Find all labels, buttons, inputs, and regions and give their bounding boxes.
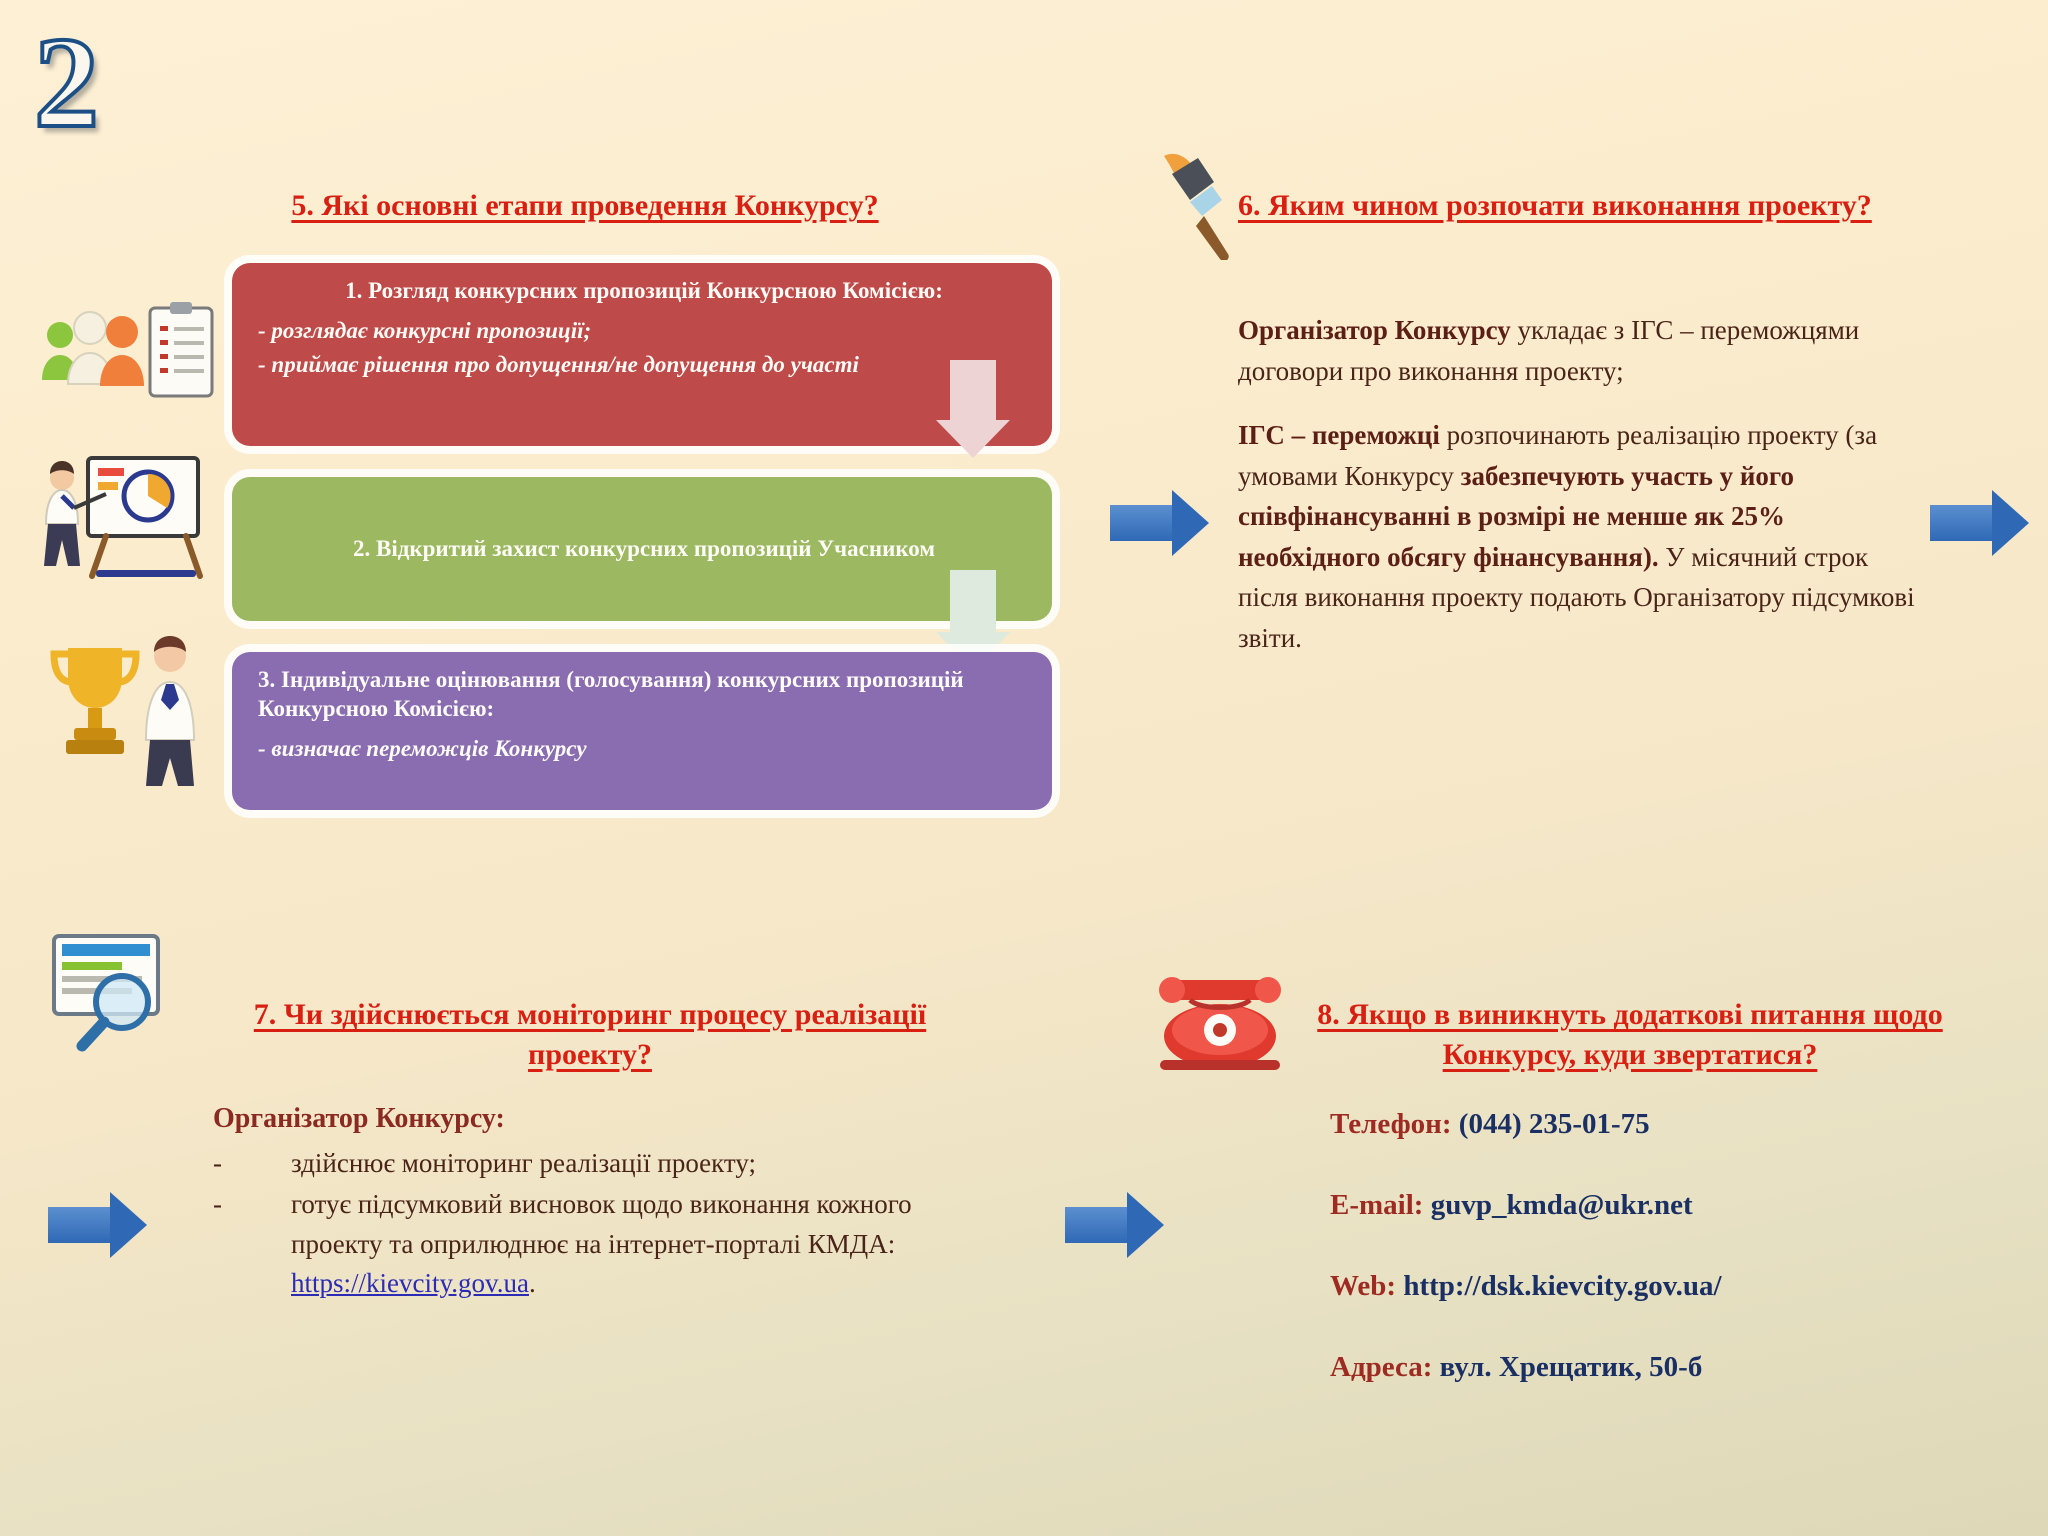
- contact-web-value[interactable]: http://dsk.kievcity.gov.ua/: [1403, 1270, 1721, 1302]
- trophy-winner-icon: [42, 630, 232, 790]
- flow-step-3-bullet-1: - визначає переможців Конкурсу: [258, 734, 1030, 764]
- flow-step-1-title: 1. Розгляд конкурсних пропозицій Конкурс…: [258, 277, 1030, 306]
- monitor-magnifier-icon: [48, 930, 178, 1060]
- contact-address: Адреса: вул. Хрещатик, 50-б: [1330, 1353, 1990, 1382]
- kievcity-portal-link[interactable]: https://kievcity.gov.ua: [291, 1268, 529, 1298]
- flow-step-1-bullet-2: - приймає рішення про допущення/не допущ…: [258, 350, 1030, 380]
- arrow-to-q6-body: [1110, 490, 1209, 556]
- arrow-to-q7-body: [48, 1192, 147, 1258]
- contact-web: Web: http://dsk.kievcity.gov.ua/: [1330, 1272, 1990, 1301]
- flow-arrow-1-2: [950, 360, 1010, 458]
- contact-phone-value: (044) 235-01-75: [1459, 1108, 1650, 1140]
- contact-address-label: Адреса:: [1330, 1351, 1432, 1383]
- q6-paragraph-2: ІГС – переможці розпочинають реалізацію …: [1238, 415, 1928, 658]
- flow-step-1-bullet-1: - розглядає конкурсні пропозиції;: [258, 316, 1030, 346]
- arrow-next-slide[interactable]: [1930, 490, 2029, 556]
- q7-bullet-2-text: готує підсумковий висновок щодо виконанн…: [291, 1189, 912, 1258]
- contact-email: E-mail: guvp_kmda@ukr.net: [1330, 1191, 1990, 1220]
- q7-lead: Організатор Конкурсу:: [213, 1098, 973, 1140]
- slide-number: 2: [34, 18, 99, 148]
- q7-bullet-1-text: здійснює моніторинг реалізації проекту;: [291, 1144, 973, 1183]
- q6-paragraph-1: Організатор Конкурсу укладає з ІГС – пер…: [1238, 310, 1928, 391]
- people-clipboard-icon: [38, 300, 228, 410]
- question-7-heading: 7. Чи здійснюється моніторинг процесу ре…: [200, 995, 980, 1074]
- flow-step-3-title: 3. Індивідуальне оцінювання (голосування…: [258, 666, 1030, 724]
- q7-bullet-2-dash: -: [213, 1185, 291, 1303]
- question-6-heading: 6. Яким чином розпочати виконання проект…: [1238, 186, 1968, 226]
- contact-email-label: E-mail:: [1330, 1189, 1423, 1221]
- q6-p2-run-1: ІГС – переможці: [1238, 420, 1440, 450]
- q7-link-suffix: .: [529, 1268, 536, 1298]
- flow-step-2-title: 2. Відкритий захист конкурсних пропозиці…: [353, 535, 935, 564]
- question-8-heading: 8. Якщо в виникнуть додаткові питання що…: [1290, 995, 1970, 1074]
- presenter-board-icon: [36, 452, 226, 582]
- contact-address-value: вул. Хрещатик, 50-б: [1440, 1351, 1703, 1383]
- q7-bullet-1-dash: -: [213, 1144, 291, 1183]
- q6-p1-run-1: Організатор Конкурсу: [1238, 315, 1511, 345]
- question-6-body: Організатор Конкурсу укладає з ІГС – пер…: [1238, 310, 1928, 658]
- slide-canvas: 2 5. Які основні етапи проведення Конкур…: [0, 0, 2048, 1536]
- contact-web-label: Web:: [1330, 1270, 1396, 1302]
- flow-step-1: 1. Розгляд конкурсних пропозицій Конкурс…: [232, 263, 1052, 446]
- question-5-heading: 5. Які основні етапи проведення Конкурсу…: [255, 186, 915, 226]
- q7-bullet-1: - здійснює моніторинг реалізації проекту…: [213, 1144, 973, 1183]
- contact-email-value[interactable]: guvp_kmda@ukr.net: [1431, 1189, 1693, 1221]
- flow-step-3: 3. Індивідуальне оцінювання (голосування…: [232, 652, 1052, 810]
- question-7-body: Організатор Конкурсу: - здійснює монітор…: [213, 1098, 973, 1306]
- flow-step-2: 2. Відкритий захист конкурсних пропозиці…: [232, 477, 1052, 621]
- q7-bullet-2: - готує підсумковий висновок щодо викона…: [213, 1185, 973, 1303]
- question-8-contacts: Телефон: (044) 235-01-75 E-mail: guvp_km…: [1330, 1110, 1990, 1382]
- arrow-to-q8-body: [1065, 1192, 1164, 1258]
- contact-phone: Телефон: (044) 235-01-75: [1330, 1110, 1990, 1139]
- contact-phone-label: Телефон:: [1330, 1108, 1452, 1140]
- q7-bullet-list: - здійснює моніторинг реалізації проекту…: [213, 1144, 973, 1304]
- telephone-icon: [1150, 960, 1290, 1080]
